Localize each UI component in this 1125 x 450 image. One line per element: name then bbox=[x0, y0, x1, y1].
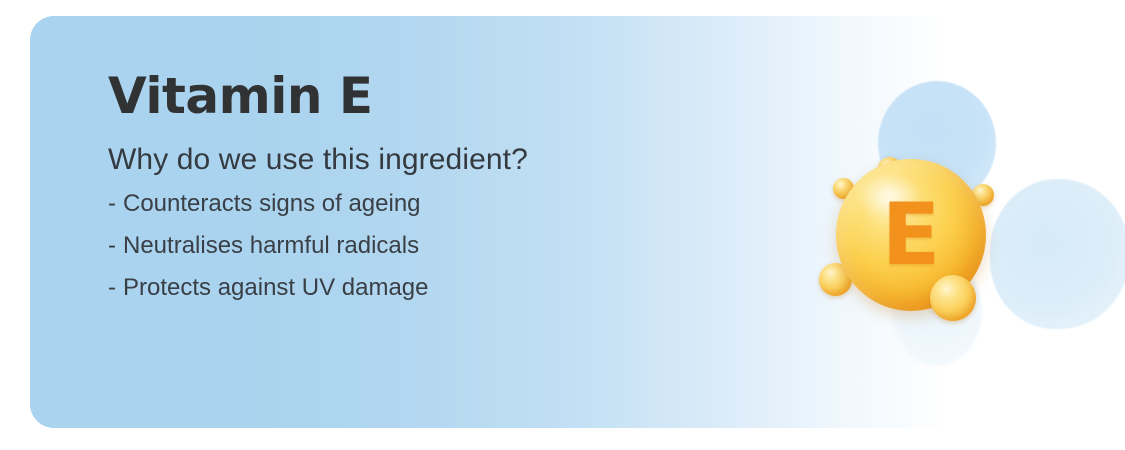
vitamin-capsule-illustration: E bbox=[800, 51, 1125, 351]
bullet-marker: - bbox=[108, 276, 123, 300]
bullet-marker: - bbox=[108, 234, 123, 258]
blue-petal-right-icon bbox=[990, 179, 1125, 329]
benefit-list: -Counteracts signs of ageing -Neutralise… bbox=[108, 178, 728, 318]
list-item: -Neutralises harmful radicals bbox=[108, 234, 728, 276]
subtitle: Why do we use this ingredient? bbox=[108, 124, 728, 178]
list-item: -Counteracts signs of ageing bbox=[108, 192, 728, 234]
list-item-label: Protects against UV damage bbox=[123, 274, 429, 301]
ingredient-card: Vitamin E Why do we use this ingredient?… bbox=[30, 16, 1030, 428]
list-item-label: Neutralises harmful radicals bbox=[123, 232, 419, 259]
list-item: -Protects against UV damage bbox=[108, 276, 728, 318]
bullet-marker: - bbox=[108, 192, 123, 216]
droplet-bottom-right-icon bbox=[930, 275, 976, 321]
list-item-label: Counteracts signs of ageing bbox=[123, 190, 421, 217]
text-content-block: Vitamin E Why do we use this ingredient?… bbox=[108, 68, 728, 318]
page-title: Vitamin E bbox=[108, 68, 728, 124]
ingredient-banner: Vitamin E Why do we use this ingredient?… bbox=[0, 0, 1125, 450]
